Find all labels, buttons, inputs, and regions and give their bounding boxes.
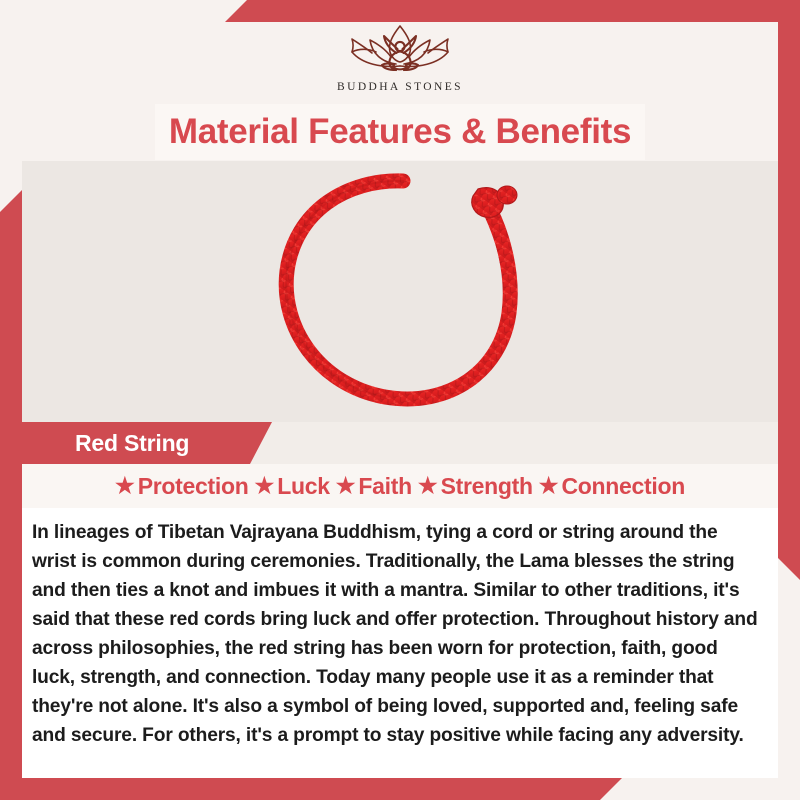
benefits-row: ★ Protection ★ Luck ★ Faith ★ Strength ★… (22, 464, 778, 508)
frame-band-bottom (0, 778, 622, 800)
benefit-label: Strength (441, 473, 533, 500)
infographic-canvas: BUDDHA STONES Material Features & Benefi… (0, 0, 800, 800)
star-icon: ★ (336, 475, 356, 497)
benefit-item-faith: ★ Faith (336, 473, 412, 500)
brand-wordmark: BUDDHA STONES (337, 81, 463, 93)
star-icon: ★ (254, 475, 274, 497)
benefit-item-strength: ★ Strength (418, 473, 533, 500)
benefit-label: Protection (138, 473, 249, 500)
star-icon: ★ (539, 475, 559, 497)
benefit-label: Faith (358, 473, 411, 500)
description-block: In lineages of Tibetan Vajrayana Buddhis… (22, 508, 778, 778)
material-label-strip: Red String (22, 422, 778, 464)
star-icon: ★ (115, 475, 135, 497)
material-label: Red String (75, 430, 189, 457)
page-title: Material Features & Benefits (169, 112, 631, 152)
brand-logo: BUDDHA STONES (22, 22, 778, 100)
description-paragraph: In lineages of Tibetan Vajrayana Buddhis… (32, 518, 762, 750)
benefit-label: Luck (277, 473, 329, 500)
lotus-meditation-figure-icon (338, 22, 462, 80)
benefit-item-protection: ★ Protection (115, 473, 248, 500)
title-banner: Material Features & Benefits (155, 104, 645, 160)
product-photo (22, 161, 778, 422)
red-string-bracelet-image (235, 161, 565, 422)
frame-band-left (0, 190, 22, 800)
benefit-item-connection: ★ Connection (539, 473, 685, 500)
material-label-banner: Red String (22, 422, 272, 464)
frame-band-right (778, 0, 800, 580)
frame-band-top (225, 0, 800, 22)
star-icon: ★ (418, 475, 438, 497)
content-plate: BUDDHA STONES Material Features & Benefi… (22, 22, 778, 778)
benefit-item-luck: ★ Luck (254, 473, 329, 500)
benefit-label: Connection (562, 473, 686, 500)
